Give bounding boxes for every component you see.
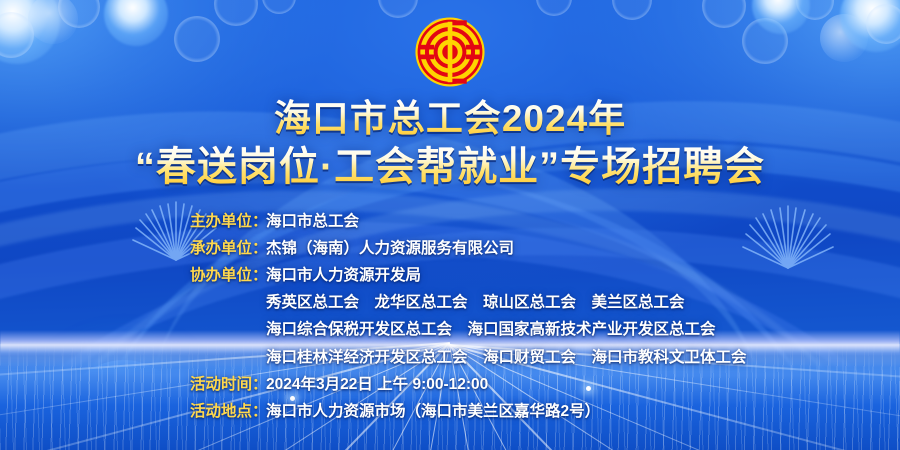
detail-value: 海口市人力资源市场（海口市美兰区嘉华路2号） [266, 399, 600, 424]
bokeh-light [28, 0, 78, 44]
bokeh-light [174, 16, 220, 62]
bokeh-light [866, 4, 900, 44]
bokeh-light [0, 12, 34, 58]
bokeh-light [612, 0, 652, 20]
detail-value: 海口市总工会 [266, 209, 359, 234]
poster-title-line-1: 海口市总工会2024年 [0, 99, 900, 140]
bokeh-light [214, 0, 258, 26]
bokeh-light [104, 0, 168, 46]
detail-label: 活动时间： [190, 372, 266, 397]
detail-row: 主办单位：海口市总工会 [190, 209, 359, 234]
bokeh-light [796, 0, 834, 20]
detail-value: 杰锦（海南）人力资源服务有限公司 [266, 236, 514, 261]
poster-details: 主办单位：海口市总工会承办单位：杰锦（海南）人力资源服务有限公司协办单位：海口市… [0, 209, 900, 424]
detail-value: 2024年3月22日 上午 9:00-12:00 [266, 372, 488, 397]
detail-value: 海口市人力资源开发局 [266, 263, 421, 288]
detail-label: 活动地点： [190, 399, 266, 424]
detail-row: 活动地点：海口市人力资源市场（海口市美兰区嘉华路2号） [190, 399, 600, 424]
detail-row: 秀英区总工会 龙华区总工会 琼山区总工会 美兰区总工会 [190, 290, 685, 315]
bokeh-light [0, 0, 60, 64]
detail-row: 协办单位：海口市人力资源开发局 [190, 263, 421, 288]
detail-label: 承办单位： [190, 236, 266, 261]
bokeh-light [742, 18, 788, 64]
poster-title-line-2: “春送岗位·工会帮就业”专场招聘会 [0, 145, 900, 189]
recruitment-poster: 海口市总工会2024年 “春送岗位·工会帮就业”专场招聘会 主办单位：海口市总工… [0, 0, 900, 450]
acftu-union-emblem-icon [414, 16, 486, 88]
bokeh-light [58, 0, 100, 28]
bokeh-light [702, 0, 746, 28]
detail-row: 活动时间：2024年3月22日 上午 9:00-12:00 [190, 372, 488, 397]
bokeh-light [536, 0, 572, 16]
poster-title-block: 海口市总工会2024年 “春送岗位·工会帮就业”专场招聘会 [0, 99, 900, 189]
detail-row: 承办单位：杰锦（海南）人力资源服务有限公司 [190, 236, 514, 261]
bokeh-light [262, 0, 296, 14]
bokeh-light [840, 0, 900, 52]
bokeh-light [378, 0, 418, 18]
detail-value: 海口桂林洋经济开发区总工会 海口财贸工会 海口市教科文卫体工会 [266, 345, 747, 370]
detail-value: 海口综合保税开发区总工会 海口国家高新技术产业开发区总工会 [266, 317, 716, 342]
detail-row: 海口桂林洋经济开发区总工会 海口财贸工会 海口市教科文卫体工会 [190, 345, 747, 370]
bokeh-light [820, 14, 868, 62]
detail-label: 主办单位： [190, 209, 266, 234]
detail-label: 协办单位： [190, 263, 266, 288]
detail-value: 秀英区总工会 龙华区总工会 琼山区总工会 美兰区总工会 [266, 290, 685, 315]
detail-row: 海口综合保税开发区总工会 海口国家高新技术产业开发区总工会 [190, 317, 716, 342]
bokeh-light [752, 0, 810, 34]
